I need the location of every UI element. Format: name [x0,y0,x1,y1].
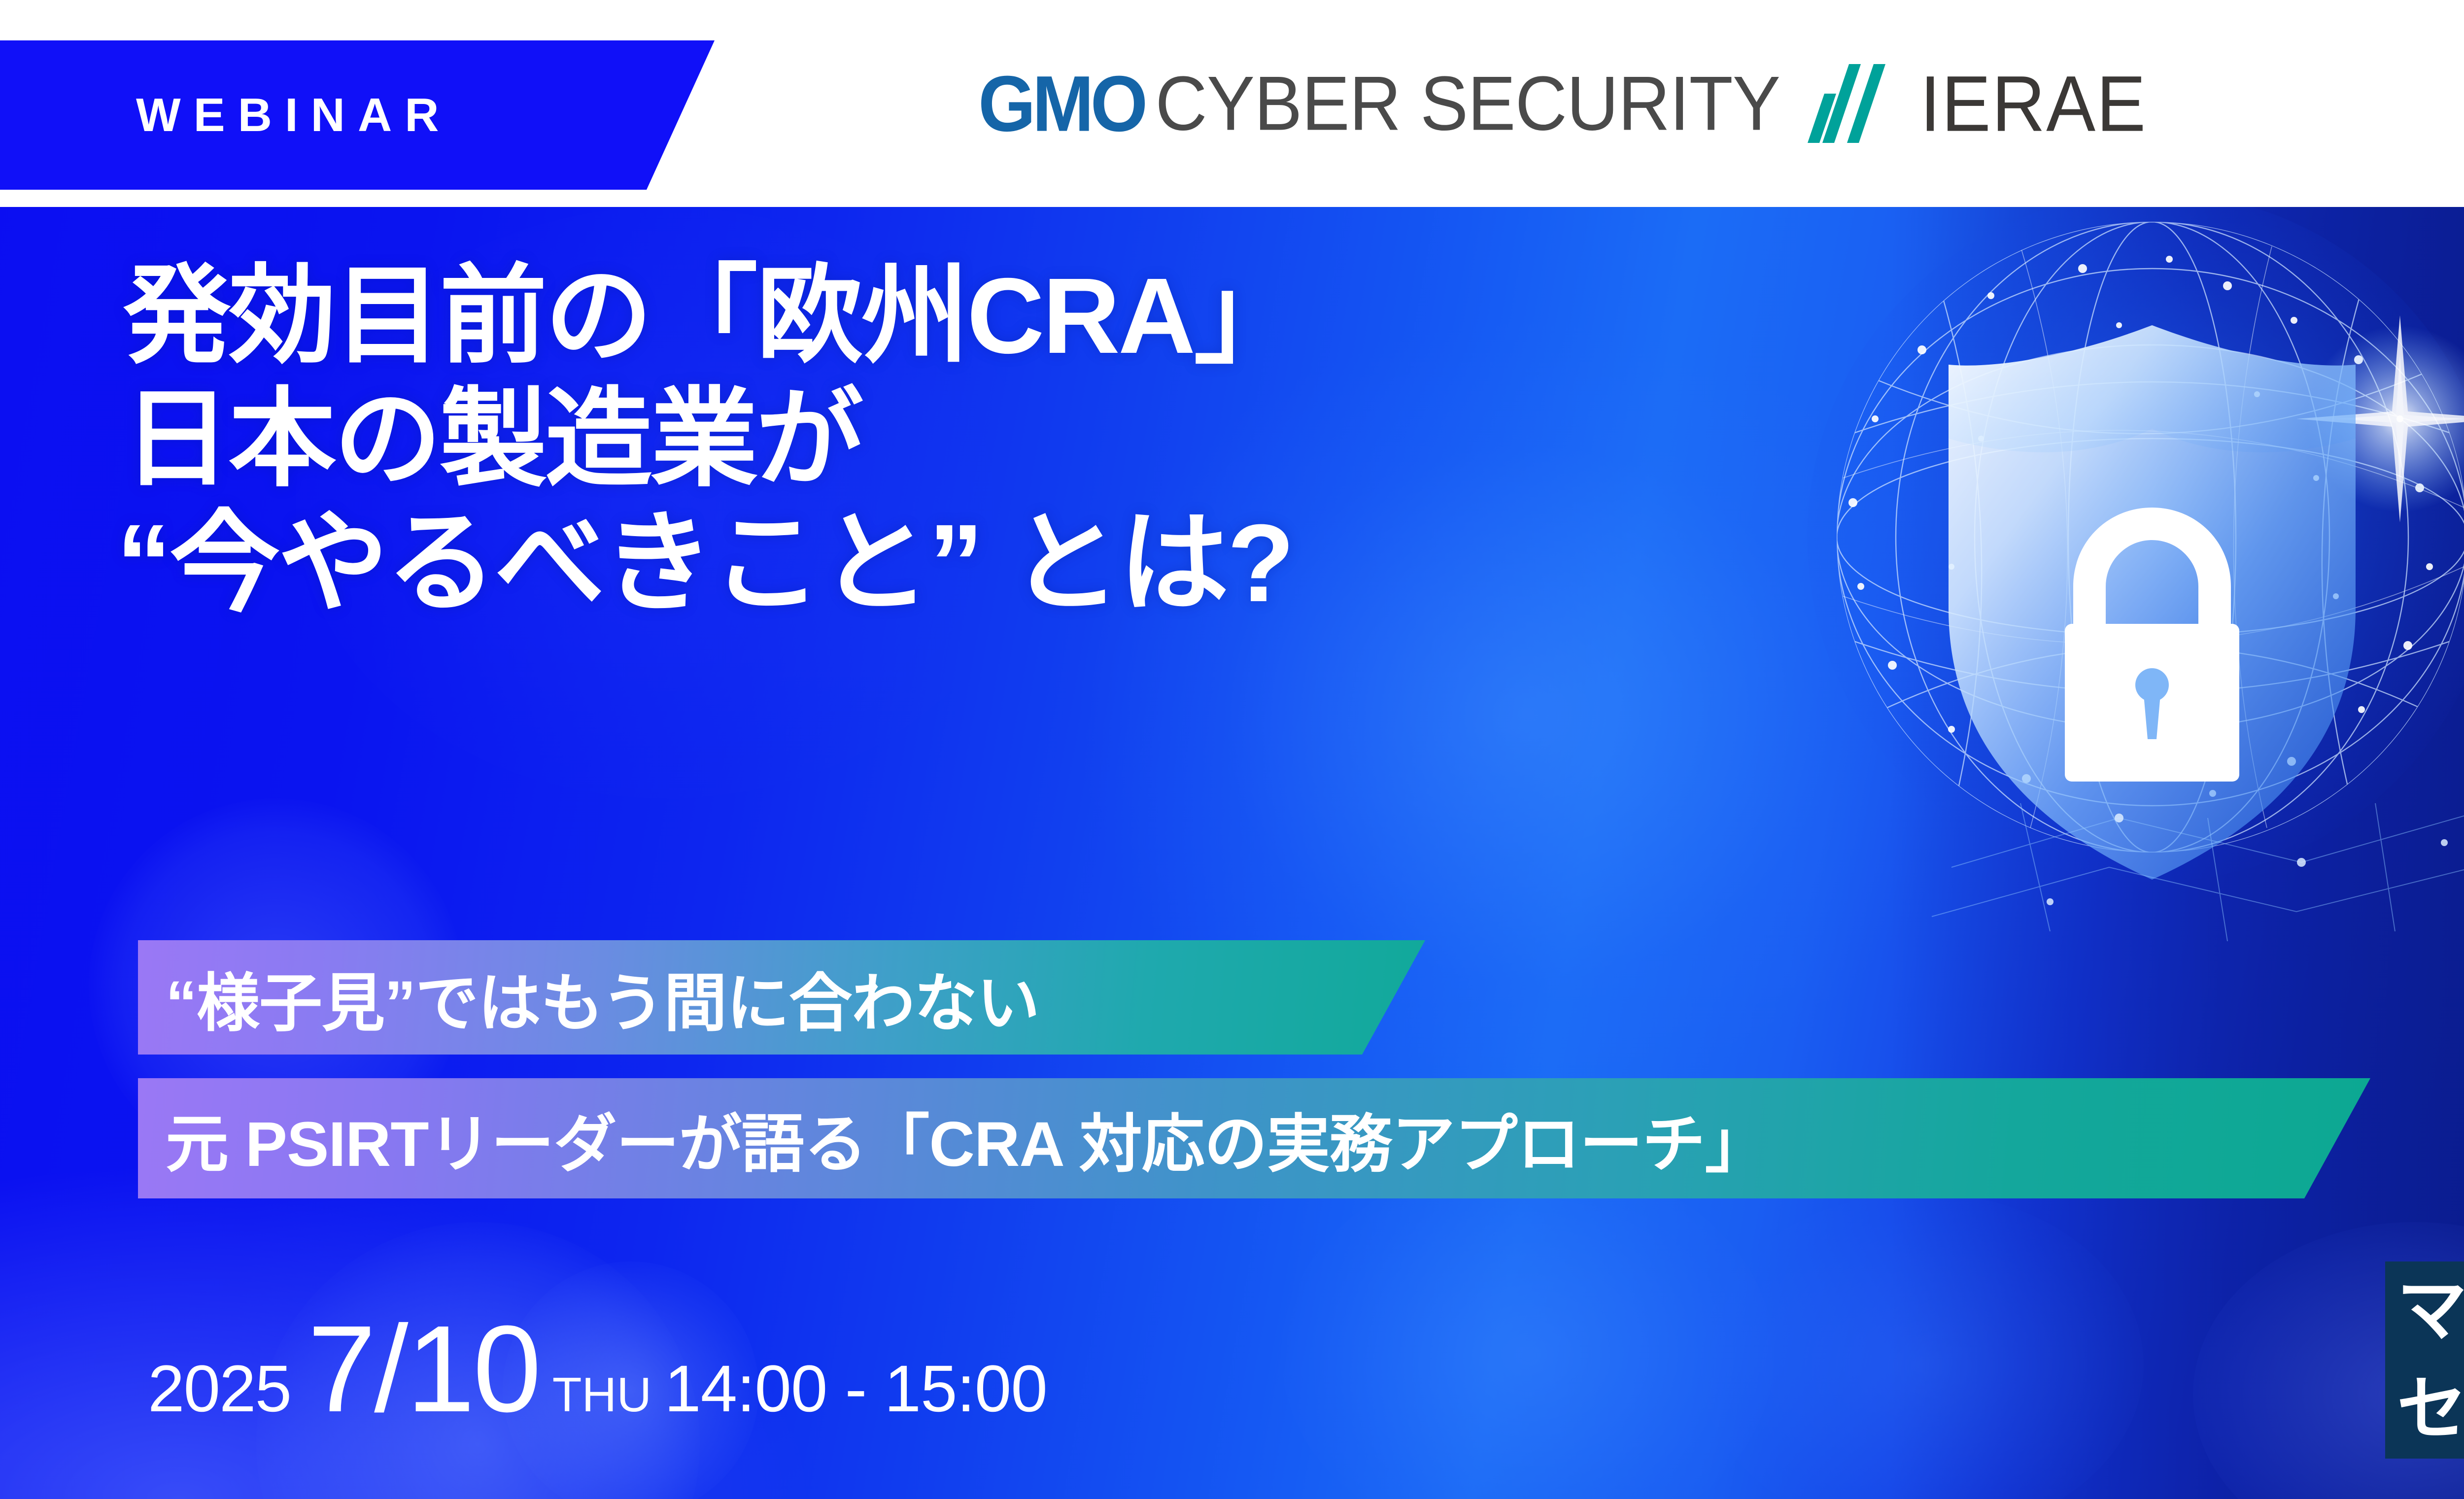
subtitle-bar-1: “様子見”ではもう間に合わない [138,940,1425,1055]
subtitle-bar-1-label: “様子見”ではもう間に合わない [166,952,1039,1043]
webinar-badge: WEBINAR [0,40,719,190]
headline: 発効目前の「欧州CRA」 日本の製造業が “今やるべきこと” とは? [123,256,1799,625]
event-weekday: THU [552,1367,651,1423]
event-time: 14:00 - 15:00 [664,1351,1047,1427]
event-year: 2025 [148,1351,291,1427]
subtitle-bar-2-label: 元 PSIRTリーダーが語る「CRA 対応の実務アプローチ」 [166,1093,1768,1184]
header-bar: WEBINAR GMO CYBER SECURITY IERAE [0,0,2464,207]
headline-line-2: 日本の製造業が [123,379,1799,500]
headline-line-1: 発効目前の「欧州CRA」 [123,256,1799,376]
majisemi-char-1: マ [2397,1276,2464,1346]
cyber-security-wordmark: CYBER SECURITY [1155,65,1780,142]
event-datetime: 2025 7/10 THU 14:00 - 15:00 [148,1298,1047,1446]
majisemi-logo: マ ジ セ ミ [2385,1261,2464,1459]
brand-logo-lockup: GMO CYBER SECURITY IERAE [978,0,2464,207]
ierae-slashes-icon [1804,64,1907,143]
webinar-badge-label: WEBINAR [136,92,452,139]
gmo-wordmark: GMO [978,64,1144,143]
webinar-banner: WEBINAR GMO CYBER SECURITY IERAE 発効目前の「欧… [0,0,2464,1499]
ierae-wordmark: IERAE [1920,64,2147,143]
event-day: 7/10 [308,1298,540,1439]
subtitle-bar-2: 元 PSIRTリーダーが語る「CRA 対応の実務アプローチ」 [138,1078,2370,1198]
headline-line-3: “今やるべきこと” とは? [116,502,1799,625]
majisemi-char-3: セ [2397,1374,2464,1444]
